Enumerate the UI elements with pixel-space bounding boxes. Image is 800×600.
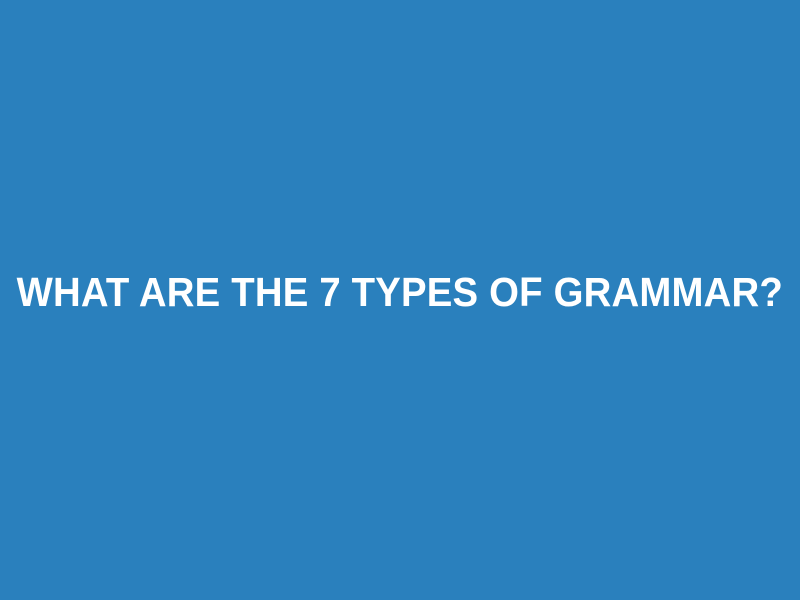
headline-container: WHAT ARE THE 7 TYPES OF GRAMMAR? <box>0 269 800 316</box>
page-title: WHAT ARE THE 7 TYPES OF GRAMMAR? <box>17 269 783 316</box>
featured-image-card: WHAT ARE THE 7 TYPES OF GRAMMAR? <box>0 0 800 600</box>
